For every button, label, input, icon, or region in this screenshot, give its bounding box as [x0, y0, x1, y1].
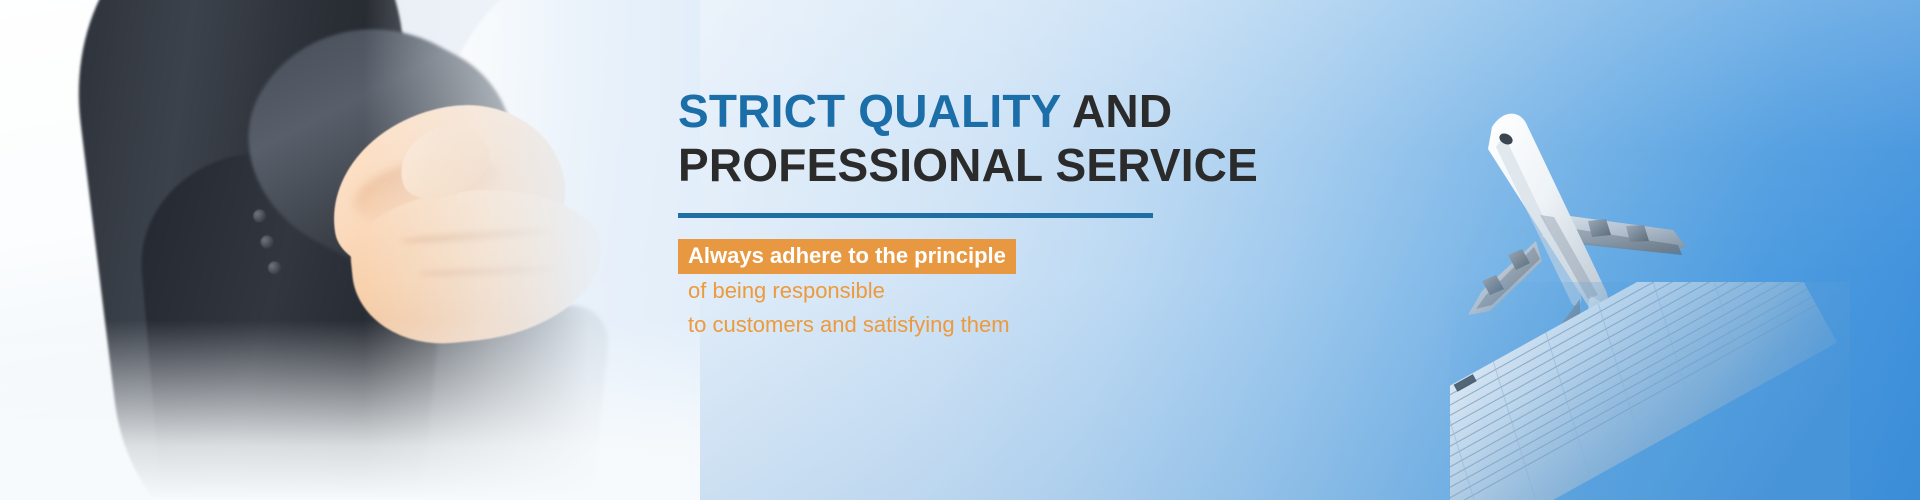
skyscraper-image — [1450, 282, 1850, 500]
tagline-highlight: Always adhere to the principle — [678, 239, 1016, 274]
headline-line-2: PROFESSIONAL SERVICE — [678, 138, 1438, 192]
tagline-block: Always adhere to the principle of being … — [678, 239, 1438, 342]
banner-text-block: STRICT QUALITY AND PROFESSIONAL SERVICE … — [678, 84, 1438, 342]
headline-accent: STRICT QUALITY — [678, 85, 1061, 137]
headline-divider — [678, 213, 1153, 218]
headline-line-1: STRICT QUALITY AND — [678, 84, 1438, 138]
skyscraper-icon — [1450, 282, 1850, 500]
tagline-line-3: to customers and satisfying them — [678, 308, 1438, 342]
tagline-line-2: of being responsible — [678, 274, 1438, 308]
headline-rest: AND — [1061, 85, 1173, 137]
photo-bottom-fade — [0, 320, 700, 500]
handshake-photo — [0, 0, 700, 500]
promo-banner: STRICT QUALITY AND PROFESSIONAL SERVICE … — [0, 0, 1920, 500]
